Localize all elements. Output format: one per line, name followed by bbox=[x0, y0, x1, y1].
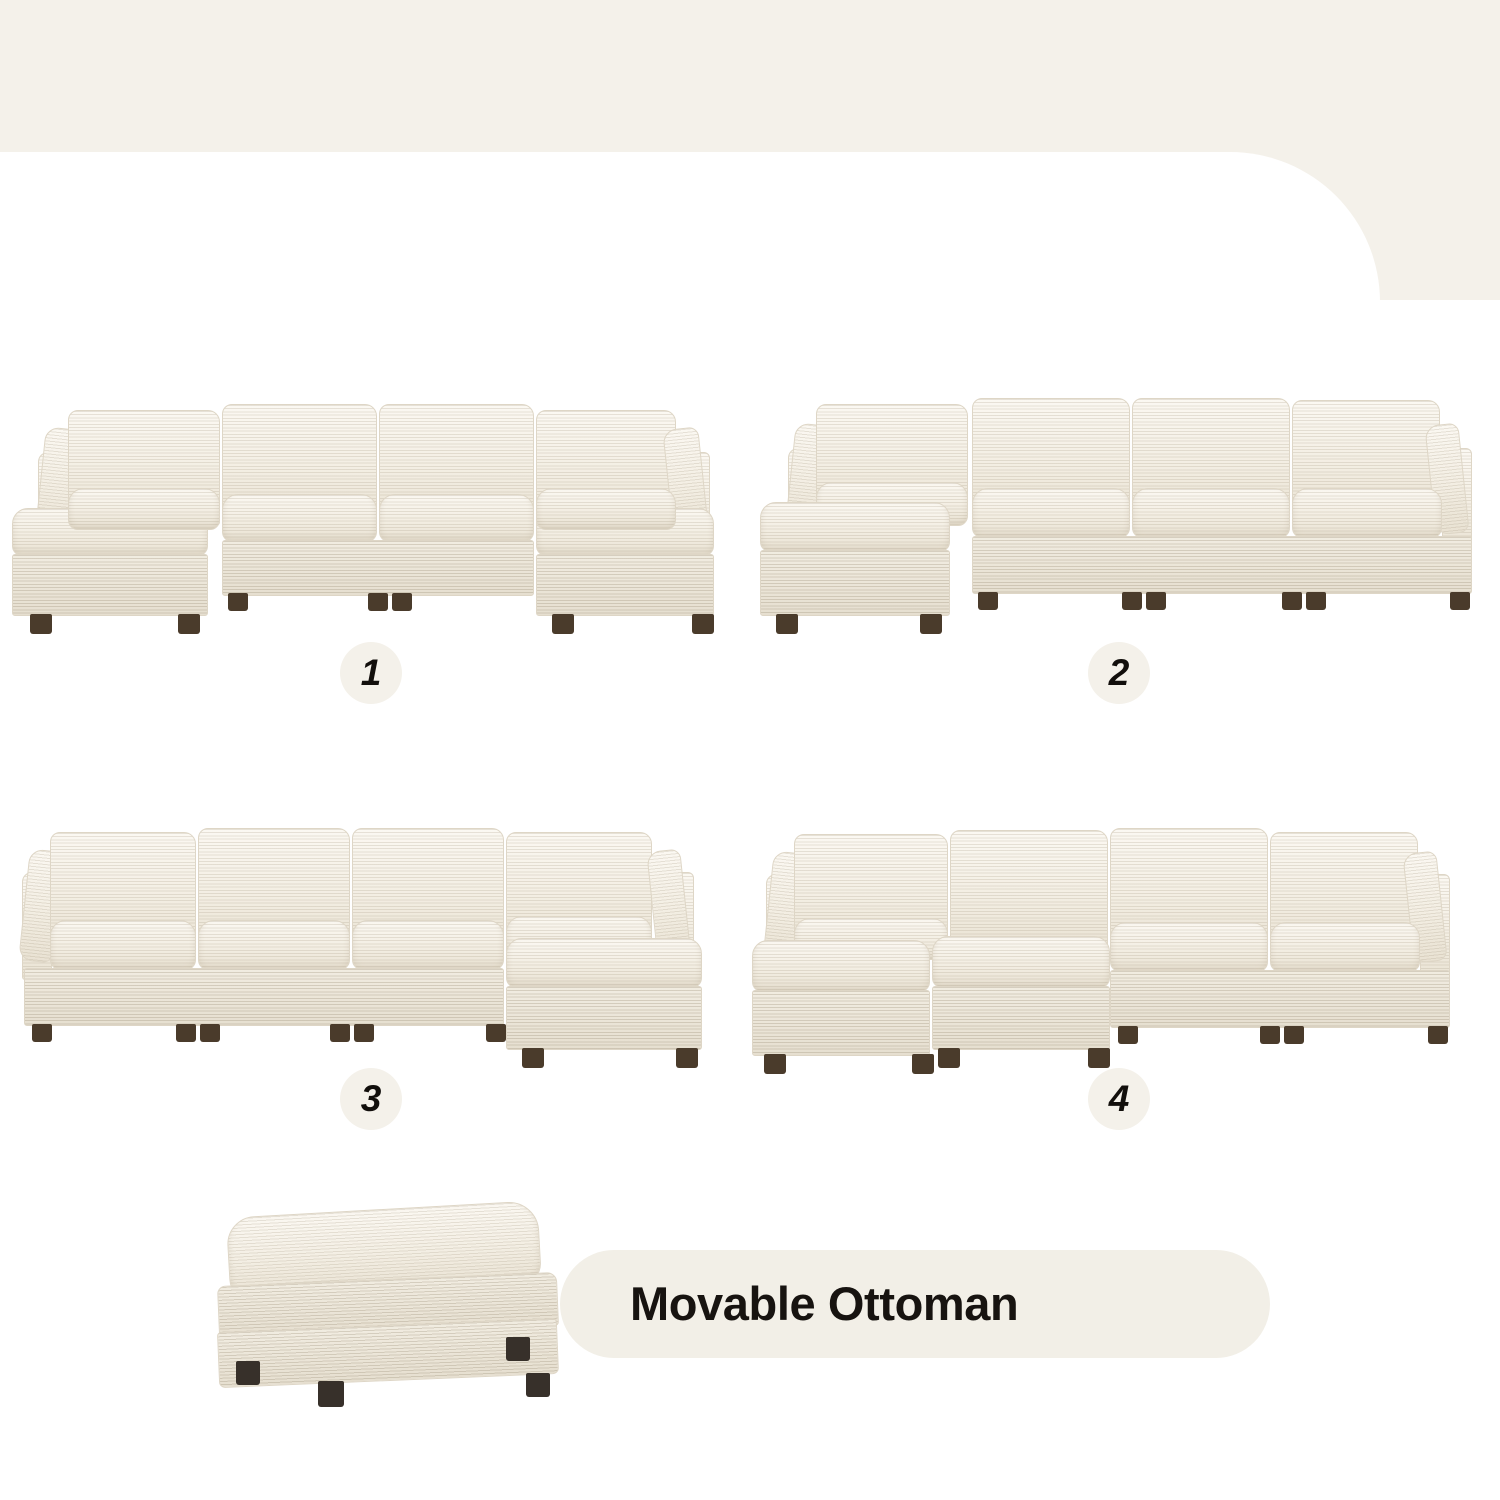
ottoman-leg-front-left bbox=[236, 1361, 260, 1385]
leg bbox=[938, 1048, 960, 1068]
leg bbox=[228, 593, 248, 611]
leg bbox=[1428, 1026, 1448, 1044]
configuration-1[interactable]: 1 bbox=[0, 390, 740, 630]
leg bbox=[522, 1048, 544, 1068]
ottoman-2-cushion bbox=[932, 936, 1110, 988]
seat-cushion-4 bbox=[1292, 488, 1442, 538]
leg bbox=[1306, 592, 1326, 610]
leg bbox=[1450, 592, 1470, 610]
seat-cushion-3 bbox=[352, 920, 504, 970]
leg bbox=[354, 1024, 374, 1042]
leg bbox=[32, 1024, 52, 1042]
movable-ottoman-illustration[interactable] bbox=[210, 1195, 570, 1425]
seat-base-left bbox=[24, 968, 504, 1026]
configuration-3-badge: 3 bbox=[340, 1068, 402, 1130]
ottoman-1-base bbox=[752, 990, 930, 1056]
configuration-4-badge: 4 bbox=[1088, 1068, 1150, 1130]
leg bbox=[368, 593, 388, 611]
ottoman-left-base bbox=[12, 554, 208, 616]
seat-base-right bbox=[1110, 970, 1450, 1028]
ottoman-cushion bbox=[760, 502, 950, 552]
ottoman-leg-front-right bbox=[318, 1381, 344, 1407]
seat-cushion-2 bbox=[972, 488, 1130, 538]
leg bbox=[1282, 592, 1302, 610]
leg bbox=[1088, 1048, 1110, 1068]
seat-cushion-3 bbox=[1110, 922, 1268, 972]
leg bbox=[486, 1024, 506, 1042]
seat-cushion-4 bbox=[1270, 922, 1420, 972]
ottoman-leg-back-right bbox=[506, 1337, 530, 1361]
leg bbox=[920, 614, 942, 634]
movable-ottoman-label: Movable Ottoman bbox=[630, 1265, 1018, 1343]
leg bbox=[178, 614, 200, 634]
leg bbox=[392, 593, 412, 611]
leg bbox=[676, 1048, 698, 1068]
ottoman-right-base bbox=[536, 554, 714, 616]
leg bbox=[978, 592, 998, 610]
corner-seat-right bbox=[536, 488, 676, 530]
leg bbox=[912, 1054, 934, 1074]
leg bbox=[1146, 592, 1166, 610]
seat-cushion-3 bbox=[1132, 488, 1290, 538]
leg bbox=[330, 1024, 350, 1042]
configuration-4-illustration bbox=[752, 812, 1492, 1052]
ottoman-cushion bbox=[506, 938, 702, 988]
seat-base-right bbox=[972, 536, 1472, 594]
configuration-2-badge: 2 bbox=[1088, 642, 1150, 704]
product-series-infographic: Series of Products You can purchase any … bbox=[0, 0, 1500, 1500]
seat-cushion-1 bbox=[50, 920, 196, 970]
leg bbox=[764, 1054, 786, 1074]
configuration-4[interactable]: 4 bbox=[752, 812, 1492, 1052]
seat-cushion-3 bbox=[379, 494, 534, 542]
leg bbox=[776, 614, 798, 634]
leg bbox=[176, 1024, 196, 1042]
configuration-1-illustration bbox=[0, 390, 740, 630]
configuration-3[interactable]: 3 bbox=[0, 812, 740, 1052]
configuration-2[interactable]: 2 bbox=[752, 382, 1492, 622]
ottoman-base bbox=[760, 550, 950, 616]
seat-cushion-2 bbox=[222, 494, 377, 542]
back-cushion-2 bbox=[950, 830, 1108, 952]
leg bbox=[1284, 1026, 1304, 1044]
ottoman-1-cushion bbox=[752, 940, 930, 992]
leg bbox=[1118, 1026, 1138, 1044]
ottoman-2-base bbox=[932, 986, 1110, 1050]
leg bbox=[552, 614, 574, 634]
leg bbox=[1122, 592, 1142, 610]
leg bbox=[200, 1024, 220, 1042]
corner-seat-left bbox=[68, 488, 220, 530]
leg bbox=[1260, 1026, 1280, 1044]
leg bbox=[692, 614, 714, 634]
configuration-2-illustration bbox=[752, 382, 1492, 622]
ottoman-leg-back-left bbox=[526, 1373, 550, 1397]
ottoman-base bbox=[506, 986, 702, 1050]
seat-base-center bbox=[222, 540, 534, 596]
configuration-1-badge: 1 bbox=[340, 642, 402, 704]
configuration-3-illustration bbox=[0, 812, 740, 1052]
leg bbox=[30, 614, 52, 634]
seat-cushion-2 bbox=[198, 920, 350, 970]
